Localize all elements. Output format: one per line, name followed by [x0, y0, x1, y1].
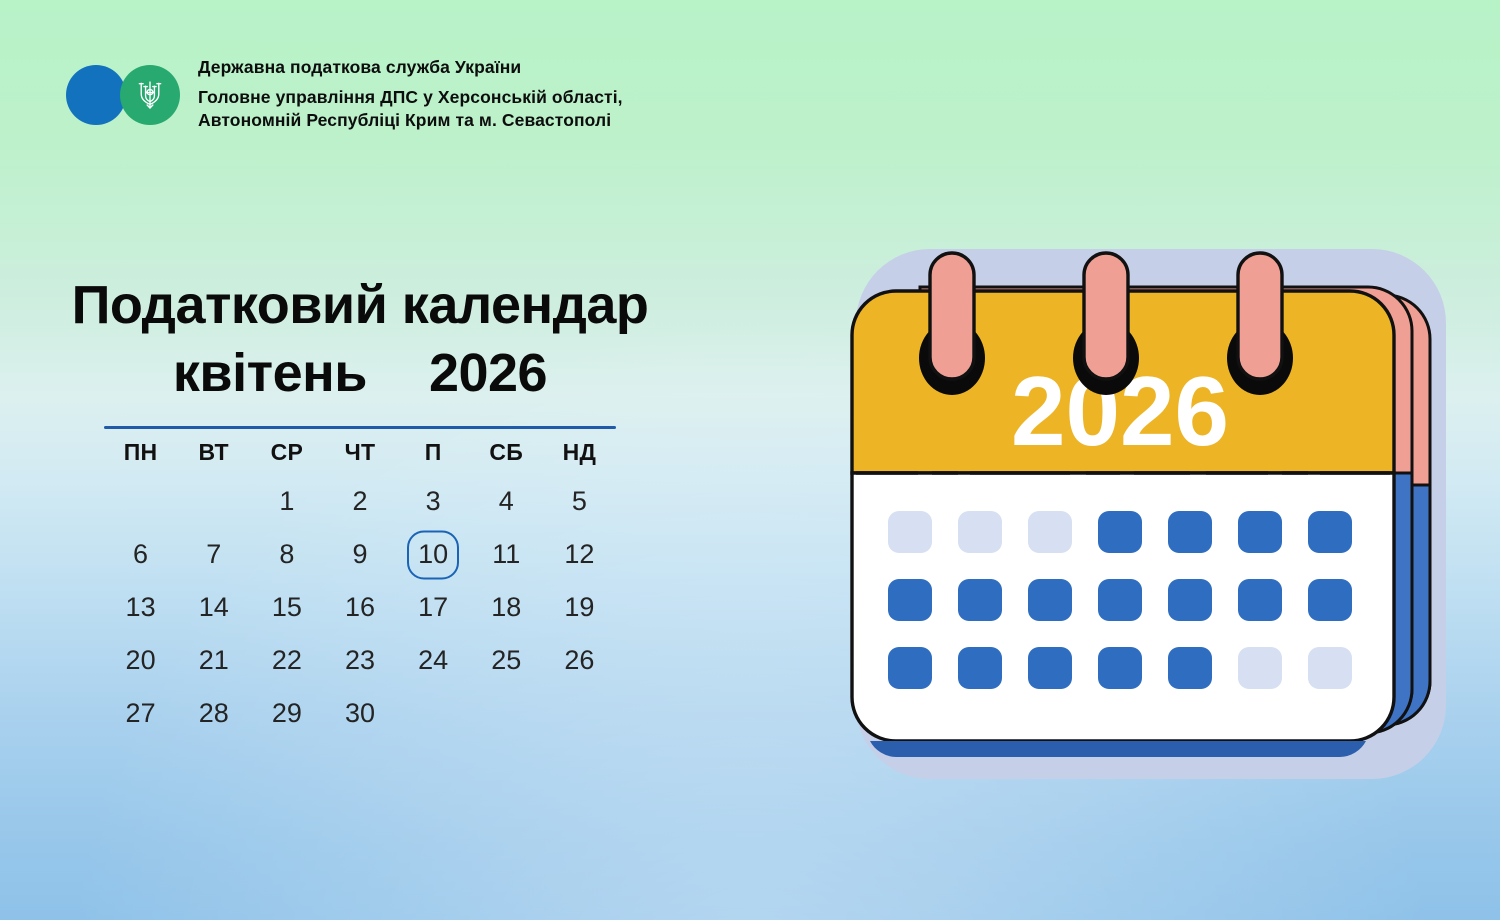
illustration-day-cell-2-3 — [1028, 579, 1072, 621]
day-grid[interactable]: 1234567891011121314151617181920212223242… — [104, 475, 616, 740]
illustration-day-cell-3-6 — [1238, 647, 1282, 689]
day-cell-blank — [177, 475, 250, 528]
illustration-day-cell-2-6 — [1238, 579, 1282, 621]
day-cell-18[interactable]: 18 — [470, 581, 543, 634]
day-number: 21 — [199, 645, 229, 676]
day-cell-blank — [104, 475, 177, 528]
day-number: 23 — [345, 645, 375, 676]
illustration-day-cell-1-5 — [1168, 511, 1212, 553]
weekday-ср: СР — [250, 429, 323, 475]
illustration-day-cell-1-6 — [1238, 511, 1282, 553]
day-number: 17 — [418, 592, 448, 623]
day-number: 7 — [206, 539, 221, 570]
brand-header: Державна податкова служба України Головн… — [66, 58, 623, 131]
illustration-day-cell-2-2 — [958, 579, 1002, 621]
binding-rings — [919, 253, 1293, 395]
day-number: 25 — [491, 645, 521, 676]
day-cell-5[interactable]: 5 — [543, 475, 616, 528]
day-cell-26[interactable]: 26 — [543, 634, 616, 687]
day-number: 15 — [272, 592, 302, 623]
weekday-чт: ЧТ — [323, 429, 396, 475]
green-circle-icon — [120, 65, 180, 125]
day-number: 26 — [564, 645, 594, 676]
illustration-day-cell-3-2 — [958, 647, 1002, 689]
weekday-вт: ВТ — [177, 429, 250, 475]
day-number: 14 — [199, 592, 229, 623]
illustration-day-cell-2-7 — [1308, 579, 1352, 621]
weekday-п: П — [397, 429, 470, 475]
day-cell-14[interactable]: 14 — [177, 581, 250, 634]
bottom-edge-shadow — [870, 741, 1366, 757]
page-title-main: Податковий календар — [72, 275, 649, 335]
desk-calendar-illustration: 2026 — [830, 235, 1470, 805]
weekday-header-row: ПНВТСРЧТПСБНД — [104, 429, 616, 475]
page-title: Податковий календар квітень2026 — [0, 275, 720, 404]
day-cell-9[interactable]: 9 — [323, 528, 396, 581]
illustration-day-cell-3-7 — [1308, 647, 1352, 689]
day-number: 24 — [418, 645, 448, 676]
day-cell-20[interactable]: 20 — [104, 634, 177, 687]
illustration-day-cell-1-7 — [1308, 511, 1352, 553]
weekday-пн: ПН — [104, 429, 177, 475]
day-cell-2[interactable]: 2 — [323, 475, 396, 528]
illustration-day-cell-2-1 — [888, 579, 932, 621]
blue-circle-icon — [66, 65, 126, 125]
day-number: 9 — [352, 539, 367, 570]
brand-logo — [66, 65, 180, 125]
day-cell-23[interactable]: 23 — [323, 634, 396, 687]
page-title-period: квітень2026 — [6, 343, 714, 405]
day-number: 19 — [564, 592, 594, 623]
illustration-day-cell-1-1 — [888, 511, 932, 553]
ring-1 — [919, 253, 985, 395]
day-number: 11 — [492, 539, 520, 570]
day-cell-13[interactable]: 13 — [104, 581, 177, 634]
day-number: 2 — [352, 486, 367, 517]
day-number: 16 — [345, 592, 375, 623]
weekday-нд: НД — [543, 429, 616, 475]
day-number: 22 — [272, 645, 302, 676]
day-number: 18 — [491, 592, 521, 623]
illustration-day-cell-3-1 — [888, 647, 932, 689]
illustration-day-cell-3-3 — [1028, 647, 1072, 689]
illustration-day-cell-2-5 — [1168, 579, 1212, 621]
day-cell-19[interactable]: 19 — [543, 581, 616, 634]
illustration-day-cell-3-5 — [1168, 647, 1212, 689]
day-number: 27 — [126, 698, 156, 729]
day-cell-21[interactable]: 21 — [177, 634, 250, 687]
day-cell-28[interactable]: 28 — [177, 687, 250, 740]
day-cell-22[interactable]: 22 — [250, 634, 323, 687]
illustration-day-cell-1-3 — [1028, 511, 1072, 553]
day-number: 28 — [199, 698, 229, 729]
weekday-сб: СБ — [470, 429, 543, 475]
ring-3 — [1227, 253, 1293, 395]
day-cell-27[interactable]: 27 — [104, 687, 177, 740]
ukraine-trident-icon — [137, 78, 163, 112]
day-cell-8[interactable]: 8 — [250, 528, 323, 581]
illustration-day-cell-3-4 — [1098, 647, 1142, 689]
day-number: 29 — [272, 698, 302, 729]
day-cell-30[interactable]: 30 — [323, 687, 396, 740]
day-cell-24[interactable]: 24 — [397, 634, 470, 687]
day-cell-1[interactable]: 1 — [250, 475, 323, 528]
day-number: 13 — [126, 592, 156, 623]
office-name: Головне управління ДПС у Херсонській обл… — [198, 86, 623, 131]
day-number: 30 — [345, 698, 375, 729]
day-cell-11[interactable]: 11 — [470, 528, 543, 581]
brand-text: Державна податкова служба України Головн… — [198, 58, 623, 131]
day-cell-29[interactable]: 29 — [250, 687, 323, 740]
month-label: квітень — [173, 343, 367, 405]
illustration-day-cell-2-4 — [1098, 579, 1142, 621]
day-cell-3[interactable]: 3 — [397, 475, 470, 528]
day-cell-6[interactable]: 6 — [104, 528, 177, 581]
day-cell-7[interactable]: 7 — [177, 528, 250, 581]
day-number: 8 — [279, 539, 294, 570]
illustration-day-cell-1-4 — [1098, 511, 1142, 553]
day-cell-25[interactable]: 25 — [470, 634, 543, 687]
day-cell-12[interactable]: 12 — [543, 528, 616, 581]
day-cell-16[interactable]: 16 — [323, 581, 396, 634]
day-number: 20 — [126, 645, 156, 676]
day-number: 12 — [564, 539, 594, 570]
day-number: 6 — [133, 539, 148, 570]
day-cell-15[interactable]: 15 — [250, 581, 323, 634]
day-number: 4 — [499, 486, 514, 517]
day-number: 1 — [279, 486, 294, 517]
day-cell-4[interactable]: 4 — [470, 475, 543, 528]
year-label: 2026 — [429, 343, 547, 405]
day-cell-17[interactable]: 17 — [397, 581, 470, 634]
day-cell-10[interactable]: 10 — [397, 528, 470, 581]
day-number: 10 — [418, 539, 448, 570]
calendar-panel: Податковий календар квітень2026 ПНВТСРЧТ… — [0, 275, 720, 740]
ring-2 — [1073, 253, 1139, 395]
org-name: Державна податкова служба України — [198, 58, 623, 77]
illustration-day-cell-1-2 — [958, 511, 1002, 553]
day-number: 3 — [426, 486, 441, 517]
day-number: 5 — [572, 486, 587, 517]
